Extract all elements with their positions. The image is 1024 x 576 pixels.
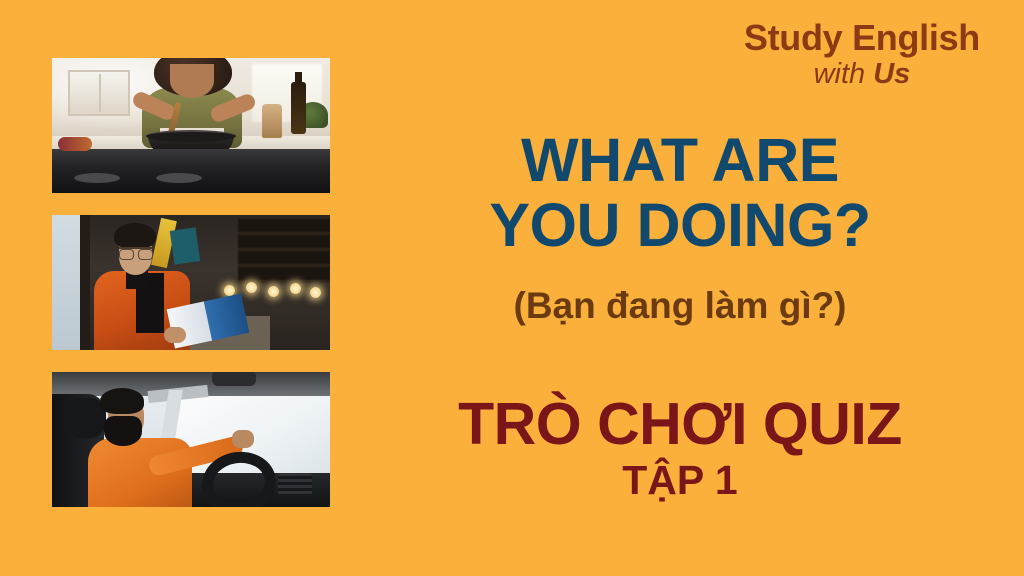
photo-driving xyxy=(52,372,330,507)
oil-bottle-shape xyxy=(291,82,306,134)
light-bulb-shape xyxy=(290,283,301,294)
driver-hand-shape xyxy=(232,430,254,448)
driver-beard-shape xyxy=(104,416,142,446)
quiz-title: TRÒ CHƠI QUIZ xyxy=(380,395,980,454)
photo-cooking xyxy=(52,58,330,193)
quiz-heading-block: TRÒ CHƠI QUIZ TẬP 1 xyxy=(380,395,980,502)
reader-head xyxy=(114,223,156,275)
stove-burner-shape xyxy=(156,173,202,183)
air-vent-shape xyxy=(278,473,312,495)
driver-sweater-shape xyxy=(88,438,192,507)
reader-hair-shape xyxy=(114,223,156,249)
photo-strip xyxy=(52,58,330,507)
brand-us-word: Us xyxy=(873,58,910,90)
teal-panel-shape xyxy=(170,227,200,264)
brand-with-word: with xyxy=(814,58,866,90)
pepper-grinder-shape xyxy=(262,104,282,138)
quiz-episode: TẬP 1 xyxy=(380,458,980,502)
photo-reading xyxy=(52,215,330,350)
subtitle-vietnamese: (Bạn đang làm gì?) xyxy=(400,285,960,327)
book-right-page-shape xyxy=(204,294,249,341)
headline-line-2: YOU DOING? xyxy=(400,193,960,258)
rearview-mirror-shape xyxy=(212,372,256,386)
shop-shelf-shape xyxy=(238,219,330,283)
page-title: WHAT ARE YOU DOING? xyxy=(400,128,960,257)
light-bulb-shape xyxy=(246,282,257,293)
brand-logo: Study English with Us xyxy=(744,20,980,89)
driver-hair-shape xyxy=(100,388,144,414)
headline-line-1: WHAT ARE xyxy=(400,128,960,193)
window-frame-shape xyxy=(80,215,90,350)
light-bulb-shape xyxy=(268,286,279,297)
glasses-icon xyxy=(119,247,153,256)
vegetables-shape xyxy=(58,137,92,151)
light-bulb-shape xyxy=(310,287,321,298)
driver-head xyxy=(100,388,146,446)
kitchen-cabinet-shape xyxy=(68,70,130,116)
stove-burner-shape xyxy=(74,173,120,183)
brand-line-1: Study English xyxy=(744,20,980,57)
reader-hand-shape xyxy=(164,327,186,343)
cook-face-shape xyxy=(170,64,214,98)
stove-shape xyxy=(52,149,330,193)
brand-line-2: with Us xyxy=(744,60,980,90)
